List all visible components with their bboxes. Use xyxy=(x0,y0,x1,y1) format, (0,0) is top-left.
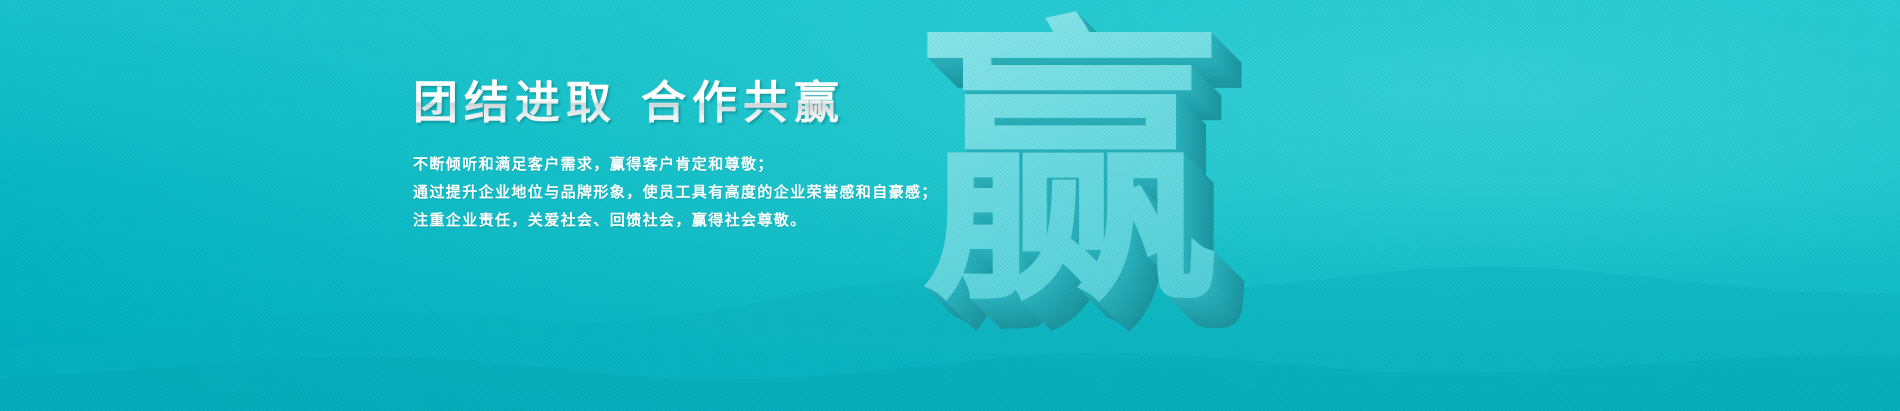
subline-3: 注重企业责任，关爱社会、回馈社会，赢得社会尊敬。 xyxy=(413,206,1033,234)
banner-sublines: 不断倾听和满足客户需求，赢得客户肯定和尊敬； 通过提升企业地位与品牌形象，使员工… xyxy=(413,150,1033,234)
promo-banner: 赢 赢 团结进取合作共赢 不断倾听和满足客户需求，赢得客户肯定和尊敬； 通过提升… xyxy=(0,0,1900,411)
headline-part-one: 团结进取 xyxy=(413,76,617,129)
subline-1: 不断倾听和满足客户需求，赢得客户肯定和尊敬； xyxy=(413,150,1033,178)
subline-2: 通过提升企业地位与品牌形象，使员工具有高度的企业荣誉感和自豪感； xyxy=(413,178,1033,206)
banner-headline: 团结进取合作共赢 xyxy=(413,78,845,128)
headline-part-two: 合作共赢 xyxy=(641,76,845,129)
banner-copy: 团结进取合作共赢 不断倾听和满足客户需求，赢得客户肯定和尊敬； 通过提升企业地位… xyxy=(413,78,1033,234)
